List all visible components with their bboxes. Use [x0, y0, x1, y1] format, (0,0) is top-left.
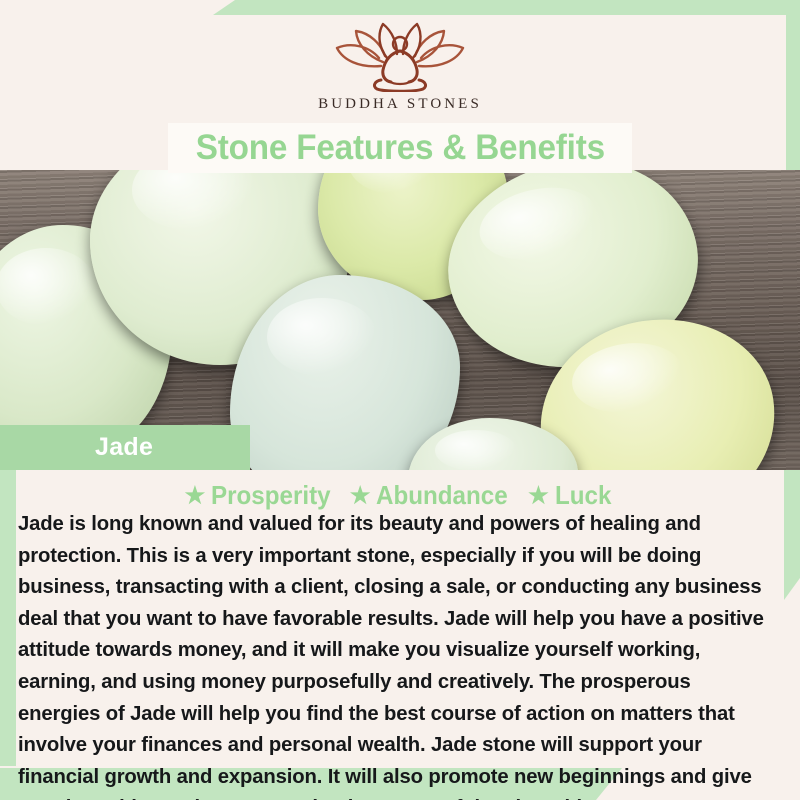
benefits-row: ★ Prosperity ★ Abundance ★ Luck — [0, 478, 800, 512]
benefit-label: Luck — [555, 480, 611, 511]
stone-description-text: Jade is long known and valued for its be… — [18, 508, 776, 800]
benefit-label: Abundance — [376, 480, 508, 511]
stone-name: Jade — [95, 433, 153, 462]
stone-description: Jade is long known and valued for its be… — [18, 508, 788, 800]
star-icon: ★ — [185, 484, 206, 507]
poster-canvas: BUDDHA STONES Stone Features & Benefits … — [0, 0, 800, 800]
stone-name-banner: Jade — [0, 425, 250, 470]
benefit-abundance: ★ Abundance — [350, 480, 518, 511]
benefit-luck: ★ Luck — [528, 480, 615, 511]
title-banner: Stone Features & Benefits — [168, 123, 632, 173]
star-icon: ★ — [350, 484, 371, 507]
star-icon: ★ — [528, 484, 549, 507]
benefit-label: Prosperity — [211, 480, 331, 511]
benefit-prosperity: ★ Prosperity — [185, 480, 340, 511]
page-title: Stone Features & Benefits — [195, 128, 604, 168]
brand-name: BUDDHA STONES — [318, 96, 482, 113]
lotus-meditation-icon — [325, 18, 475, 92]
brand-header: BUDDHA STONES — [0, 0, 800, 122]
